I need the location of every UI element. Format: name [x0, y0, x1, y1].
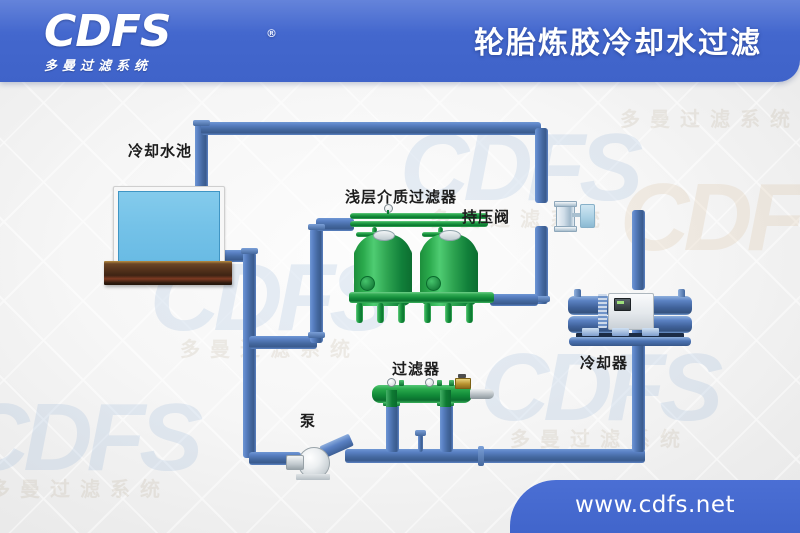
pipe-filter-drain	[418, 434, 423, 452]
logo-text: CDFS	[44, 6, 171, 57]
valve-actuator-box[interactable]	[580, 204, 595, 228]
pipe-right-riser-upper	[535, 128, 548, 203]
label-cooling-pool: 冷却水池	[128, 140, 192, 161]
page-title: 轮胎炼胶冷却水过滤	[474, 18, 762, 62]
pipe-joint	[478, 446, 484, 466]
pipe-suction-downcomer	[243, 252, 256, 458]
cooler-mount-pad	[582, 328, 599, 336]
pump-suction-flange	[286, 455, 304, 470]
pipe-top-header	[201, 122, 541, 135]
pipe-joint	[241, 248, 258, 254]
pipe-mid-crossover	[249, 336, 317, 349]
tank-side-port-icon	[426, 276, 441, 291]
filter-leg-right	[440, 390, 451, 407]
cooler-unit[interactable]	[568, 288, 692, 346]
cooling-pool-water	[118, 191, 220, 263]
tank-side-port-icon	[360, 276, 375, 291]
tank-support-leg	[445, 303, 452, 323]
cooler-nozzle-left	[574, 289, 581, 297]
label-cooler: 冷却器	[580, 352, 628, 373]
filter-valve-handle[interactable]	[458, 374, 466, 378]
pipe-tank-feed-riser	[310, 228, 323, 343]
website-url[interactable]: www.cdfs.net	[510, 492, 800, 518]
cooler-fin-pack	[598, 294, 607, 328]
valve-flange-bottom	[554, 226, 577, 232]
pipe-filter-riser-left	[386, 404, 399, 452]
valve-flange-top	[554, 201, 577, 207]
pipe-cooler-riser-top	[632, 210, 645, 290]
cooler-display-screen[interactable]	[614, 298, 631, 311]
green-header-bottom	[349, 292, 494, 303]
cooler-bottom-rail	[569, 337, 691, 346]
pipe-joint	[415, 430, 426, 436]
tank-support-leg	[377, 303, 384, 323]
pump-base-plate	[296, 474, 330, 480]
label-filter: 过滤器	[392, 358, 440, 379]
pipe-joint	[193, 120, 210, 126]
cooler-mount-pad	[642, 328, 659, 336]
filter-nozzle	[399, 380, 404, 386]
gauge-stem	[387, 210, 389, 214]
cooler-mount-pad	[612, 328, 629, 336]
label-shallow-media-filter: 浅层介质过滤器	[345, 186, 457, 207]
pipe-right-riser-lower	[535, 226, 548, 304]
tank-support-leg	[466, 303, 473, 323]
diagram-page: CDFS CDFS CDFS CDFS CDFS 多曼过滤系统 多曼过滤系统 多…	[0, 0, 800, 533]
cooler-nozzle-right	[678, 289, 685, 297]
brand-logo[interactable]: CDFS ® 多曼过滤系统	[44, 10, 264, 72]
logo-subtitle: 多曼过滤系统	[44, 55, 264, 74]
label-pressure-sustaining-valve: 持压阀	[462, 206, 510, 227]
filter-gauge-icon-left	[387, 378, 396, 387]
label-pump: 泵	[300, 410, 316, 431]
tank-support-leg	[424, 303, 431, 323]
tank-manhole-icon	[439, 230, 461, 241]
filter-leg-left	[386, 390, 397, 407]
pipe-filter-riser-right	[440, 404, 453, 452]
filter-end-cap	[470, 389, 494, 399]
registered-trademark-icon: ®	[266, 12, 276, 56]
page-header: CDFS ® 多曼过滤系统 轮胎炼胶冷却水过滤	[0, 0, 800, 82]
filter-nozzle	[437, 380, 442, 386]
cooling-pool-base	[104, 261, 232, 285]
pipe-tank-outlet-run	[490, 294, 538, 306]
page-footer: www.cdfs.net	[510, 480, 800, 533]
tank-support-leg	[356, 303, 363, 323]
filter-nozzle	[449, 380, 454, 386]
tank-support-leg	[398, 303, 405, 323]
tank-manhole-icon	[373, 230, 395, 241]
filter-gauge-icon-right	[425, 378, 434, 387]
pipe-joint	[308, 224, 325, 230]
logo-wordmark: CDFS ®	[44, 10, 264, 54]
filter-brass-valve[interactable]	[455, 378, 471, 389]
pipe-joint	[308, 332, 325, 338]
